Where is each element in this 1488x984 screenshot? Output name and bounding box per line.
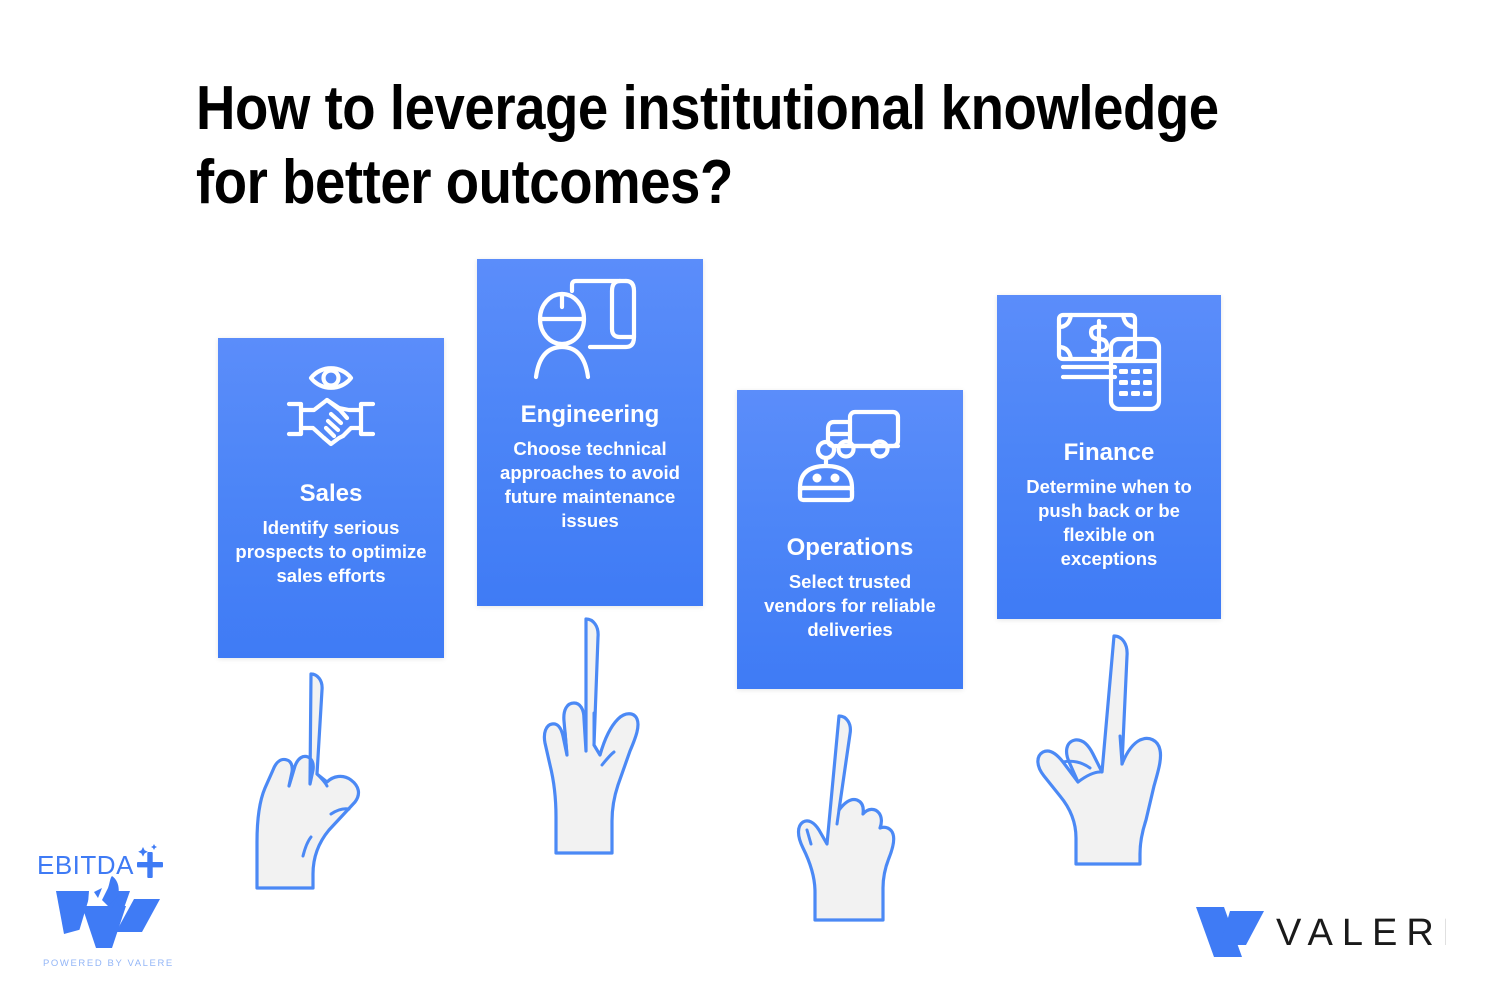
card-finance[interactable]: Finance Determine when to push back or b… [997,295,1221,619]
card-operations[interactable]: Operations Select trusted vendors for re… [737,390,963,689]
ebitda-plus-logo: EBITDA POWERED BY VALERE [34,844,184,977]
valere-wordmark: VALERE [1276,912,1446,954]
card-description: Select trusted vendors for reliable deli… [737,570,963,642]
pointing-hand-icon-operations [795,706,911,935]
pointing-hand-icon-engineering [530,605,656,872]
banknote-calculator-icon [997,309,1221,415]
ebitda-tagline: POWERED BY VALERE [43,958,174,969]
ebitda-wordmark: EBITDA [37,850,134,880]
card-description: Identify serious prospects to optimize s… [218,516,444,588]
valere-logo: VALERE [1190,901,1446,968]
page-title: How to leverage institutional knowledge … [196,72,1278,220]
card-title: Sales [300,480,363,508]
robot-delivery-truck-icon [737,404,963,506]
card-sales[interactable]: Sales Identify serious prospects to opti… [218,338,444,658]
plus-icon [137,844,163,878]
engineer-blueprint-icon [477,273,703,385]
card-title: Operations [787,534,914,562]
pointing-hand-icon-finance [1030,622,1182,877]
eye-handshake-icon [218,352,444,452]
card-description: Choose technical approaches to avoid fut… [477,437,703,533]
card-engineering[interactable]: Engineering Choose technical approaches … [477,259,703,606]
valere-v-icon [1196,907,1264,957]
valere-rocket-v-icon [56,876,160,948]
card-description: Determine when to push back or be flexib… [997,475,1221,571]
card-title: Finance [1064,439,1155,467]
card-title: Engineering [521,401,660,429]
pointing-hand-icon-sales [243,662,377,897]
